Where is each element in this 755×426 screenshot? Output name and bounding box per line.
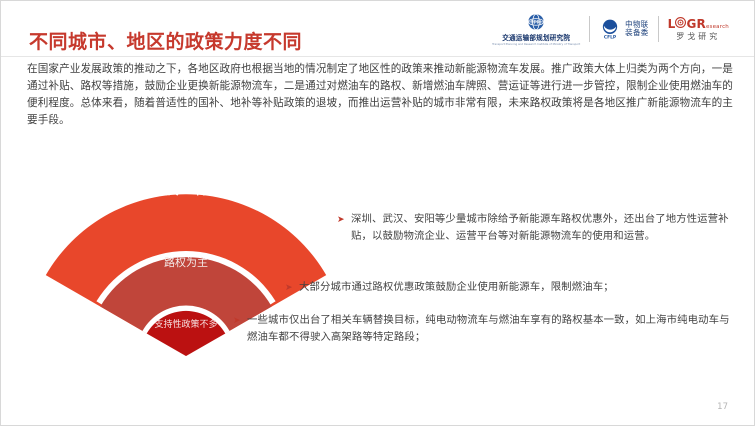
logr-target-icon — [675, 17, 686, 28]
arrow-bullet-icon: ➤ — [337, 211, 351, 227]
arrow-bullet-icon: ➤ — [233, 312, 247, 328]
fan-band-1-label: 路权+补贴 — [145, 179, 227, 199]
globe-icon: TPRI — [525, 12, 547, 34]
bullet-item-3: ➤ 一些城市仅出台了相关车辆替换目标，纯电动物流车与燃油车享有的路权基本一致，如… — [233, 312, 733, 346]
logo-tpri: TPRI 交通运输部规划研究院 Transport Planning and R… — [483, 12, 589, 46]
body-paragraph: 在国家产业发展政策的推动之下，各地区政府也根据当地的情况制定了地区性的政策来推动… — [27, 61, 733, 129]
svg-text:CFLP: CFLP — [604, 34, 617, 40]
logo-logr-cn: 罗戈研究 — [676, 33, 720, 41]
slide-canvas: TPRI 交通运输部规划研究院 Transport Planning and R… — [0, 0, 755, 426]
logo-logresearch: L GR esearch 罗戈研究 — [659, 12, 738, 46]
svg-text:TPRI: TPRI — [530, 20, 542, 26]
bullet-list: ➤ 深圳、武汉、安阳等少量城市除给予新能源车路权优惠外，还出台了地方性运营补贴，… — [233, 206, 753, 381]
page-title: 不同城市、地区的政策力度不同 — [29, 27, 302, 54]
fan-band-2-label: 路权为主 — [164, 256, 208, 269]
title-divider — [1, 56, 755, 57]
cflp-swirl-icon: CFLP — [599, 18, 621, 40]
logo-tpri-en: Transport Planning and Research Institut… — [492, 43, 580, 46]
logo-cflp: CFLP 中物联 装备委 — [590, 12, 657, 46]
bullet-item-2: ➤ 大部分城市通过路权优惠政策鼓励企业使用新能源车，限制燃油车； — [285, 279, 745, 296]
footer-divider — [1, 423, 755, 425]
bullet-item-1: ➤ 深圳、武汉、安阳等少量城市除给予新能源车路权优惠外，还出台了地方性运营补贴，… — [337, 211, 747, 245]
fan-band-3-label: 支持性政策不多 — [154, 318, 217, 330]
logo-logr-en: L GR esearch — [668, 17, 729, 31]
logo-cflp-line2: 装备委 — [625, 29, 648, 37]
logo-cflp-line1: 中物联 — [625, 21, 648, 29]
page-number: 17 — [717, 402, 728, 412]
logo-logr-suffix: GR — [686, 18, 706, 30]
logo-logr-prefix: L — [668, 18, 676, 30]
logo-bar: TPRI 交通运输部规划研究院 Transport Planning and R… — [483, 12, 738, 46]
bullet-text-2: 大部分城市通过路权优惠政策鼓励企业使用新能源车，限制燃油车； — [299, 279, 614, 296]
logo-logr-small: esearch — [706, 25, 729, 31]
bullet-text-1: 深圳、武汉、安阳等少量城市除给予新能源车路权优惠外，还出台了地方性运营补贴，以鼓… — [351, 211, 747, 245]
logo-tpri-cn: 交通运输部规划研究院 — [492, 35, 580, 42]
bullet-text-3: 一些城市仅出台了相关车辆替换目标，纯电动物流车与燃油车享有的路权基本一致，如上海… — [247, 312, 733, 346]
arrow-bullet-icon: ➤ — [285, 279, 299, 295]
